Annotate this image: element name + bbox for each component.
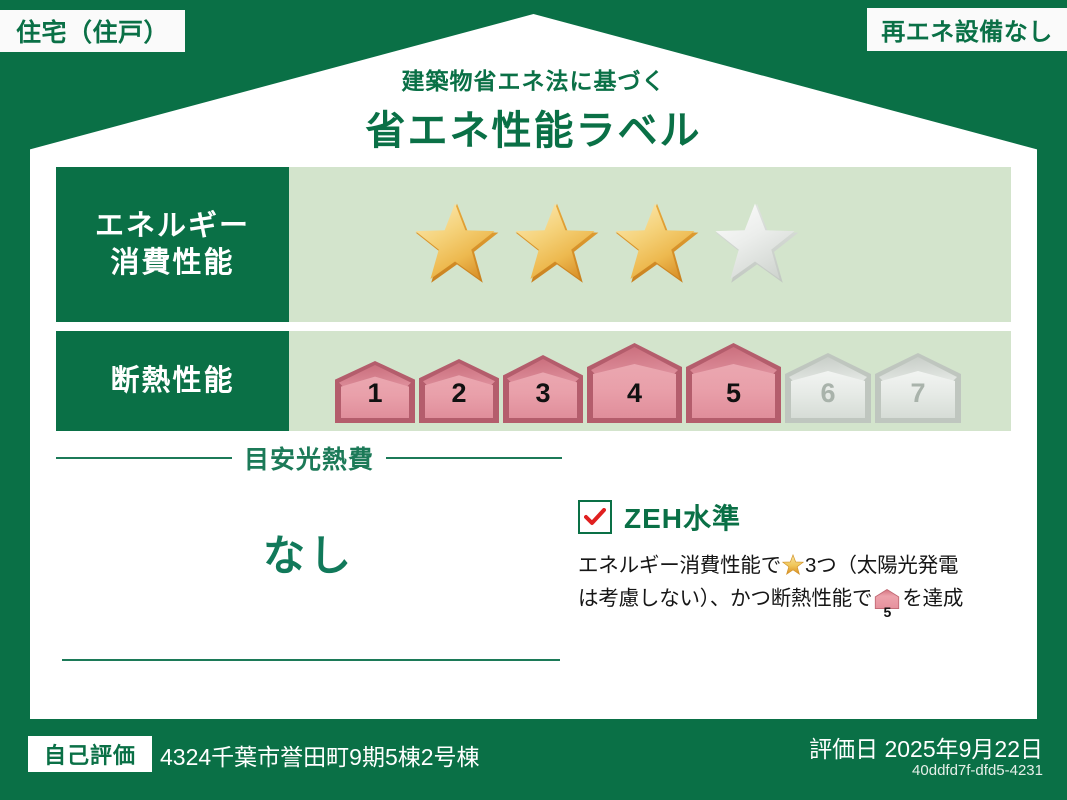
- zeh-heading: ZEH水準: [578, 497, 1018, 537]
- energy-label-line1: エネルギー: [95, 208, 250, 244]
- insulation-grade-3: 3: [503, 355, 583, 423]
- insulation-grade-1: 1: [335, 361, 415, 423]
- insulation-grade-7: 7: [875, 353, 961, 423]
- heading-rule-right: [386, 457, 562, 459]
- document-id: 40ddfd7f-dfd5-4231: [912, 762, 1043, 779]
- evaluation-type-badge: 自己評価: [28, 736, 152, 772]
- insulation-grade-5: 5: [686, 343, 781, 423]
- evaluation-date: 評価日 2025年9月22日: [809, 730, 1043, 764]
- insulation-grade-2: 2: [419, 359, 499, 423]
- zeh-description: エネルギー消費性能で3つ（太陽光発電は考慮しない）、かつ断熱性能で5を達成: [578, 549, 1018, 620]
- zeh-desc-part1: エネルギー消費性能で: [578, 554, 781, 577]
- insulation-label-text: 断熱性能: [110, 363, 234, 399]
- house-filled-icon: [503, 355, 583, 423]
- evaluation-type-label: 自己評価: [44, 738, 136, 770]
- house-filled-icon: [419, 359, 499, 423]
- energy-label-line2: 消費性能: [110, 245, 234, 281]
- zeh-checkbox[interactable]: [578, 500, 612, 534]
- insulation-grade-6: 6: [785, 353, 871, 423]
- star-filled-icon: [511, 199, 603, 291]
- building-type-label: 住宅（住戸）: [16, 13, 169, 49]
- insulation-grade-4: 4: [587, 343, 682, 423]
- insulation-performance-label: 断熱性能: [56, 331, 289, 431]
- cost-section-divider: [62, 659, 560, 661]
- house-filled-icon: [587, 343, 682, 423]
- label-title: 省エネ性能ラベル: [0, 98, 1067, 156]
- star-filled-icon: [411, 199, 503, 291]
- star-rating: [411, 199, 803, 291]
- zeh-desc-part2: は考慮しない）、かつ断熱性能で: [578, 587, 872, 610]
- energy-performance-label: エネルギー 消費性能: [56, 167, 289, 322]
- insulation-performance-row: 断熱性能 1234567: [56, 331, 1011, 431]
- energy-performance-value: [289, 167, 1011, 322]
- property-address: 4324千葉市誉田町9期5棟2号棟: [160, 738, 480, 772]
- star-filled-icon: [611, 199, 703, 291]
- house-filled-icon: [335, 361, 415, 423]
- renewable-energy-label: 再エネ設備なし: [881, 12, 1053, 47]
- zeh-desc-part3: を達成: [902, 587, 963, 610]
- inline-house-badge: 5: [874, 587, 900, 620]
- renewable-energy-badge: 再エネ設備なし: [867, 8, 1067, 51]
- star-empty-icon: [711, 199, 803, 291]
- label-footer: 自己評価 4324千葉市誉田町9期5棟2号棟 評価日 2025年9月22日 40…: [0, 722, 1067, 800]
- utility-cost-title: 目安光熱費: [244, 440, 374, 476]
- heading-rule-left: [56, 457, 232, 459]
- zeh-section: ZEH水準 エネルギー消費性能で3つ（太陽光発電は考慮しない）、かつ断熱性能で5…: [578, 497, 1018, 620]
- check-icon: [584, 508, 606, 526]
- zeh-desc-stars: 3つ（太陽光発電: [805, 554, 958, 577]
- house-empty-icon: [785, 353, 871, 423]
- building-type-badge: 住宅（住戸）: [0, 10, 185, 52]
- inline-house-grade: 5: [874, 605, 900, 619]
- inline-star-icon: [782, 554, 804, 576]
- label-subtitle: 建築物省エネ法に基づく: [0, 62, 1067, 96]
- insulation-grade-scale: 1234567: [335, 339, 961, 423]
- insulation-performance-value: 1234567: [289, 331, 1011, 431]
- utility-cost-value: なし: [56, 522, 562, 583]
- house-filled-icon: [686, 343, 781, 423]
- house-empty-icon: [875, 353, 961, 423]
- label-canvas: 住宅（住戸） 再エネ設備なし 建築物省エネ法に基づく 省エネ性能ラベル エネルギ…: [0, 0, 1067, 800]
- energy-performance-row: エネルギー 消費性能: [56, 167, 1011, 322]
- zeh-title-text: ZEH水準: [624, 497, 741, 537]
- utility-cost-heading: 目安光熱費: [56, 443, 562, 473]
